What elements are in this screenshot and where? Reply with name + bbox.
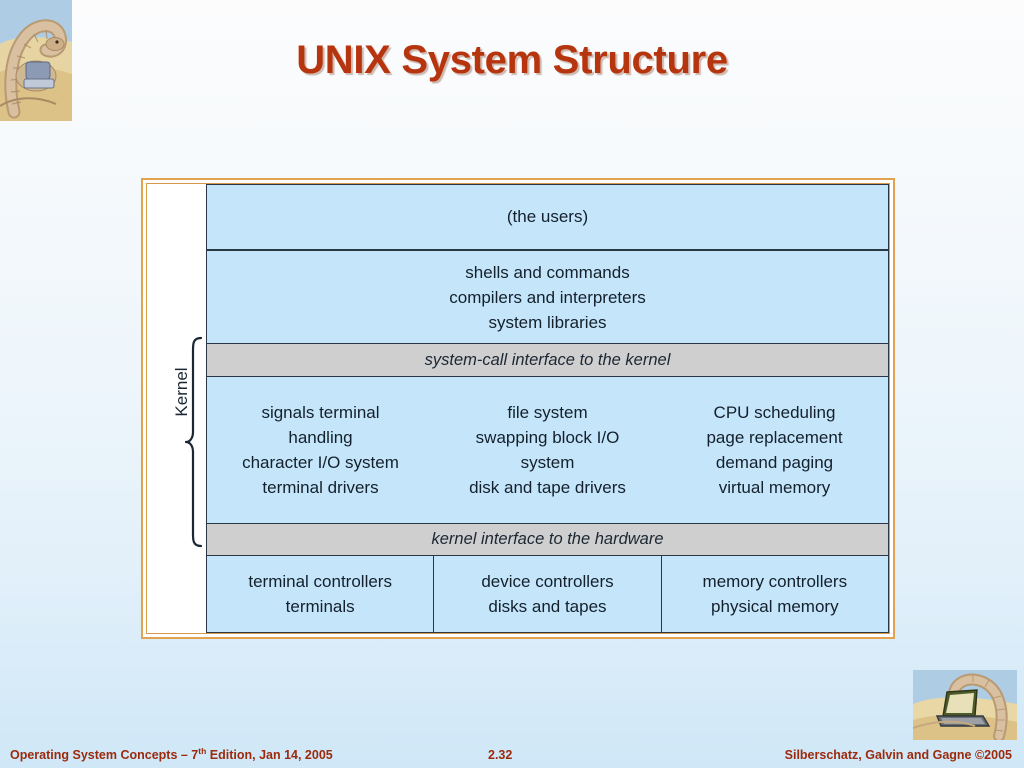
hardware-column-1-line1: terminal controllers: [207, 569, 433, 594]
kernel-column-2: file system swapping block I/O system di…: [434, 400, 661, 500]
hardware-columns: terminal controllers terminals device co…: [207, 556, 888, 632]
band-kernel-hardware-interface: kernel interface to the hardware: [206, 524, 889, 556]
kernel-column-1-line4: terminal drivers: [207, 475, 434, 500]
footer-left: Operating System Concepts – 7th Edition,…: [10, 746, 333, 762]
hardware-column-2-line2: disks and tapes: [434, 594, 660, 619]
footer-copyright: Silberschatz, Galvin and Gagne ©2005: [785, 748, 1012, 762]
layer-stack: (the users) shells and commands compiler…: [206, 184, 889, 633]
diagram-inner-frame: Kernel (the users) shells and commands c…: [146, 183, 890, 634]
layer-shells-line3: system libraries: [449, 310, 646, 335]
layer-users: (the users): [206, 184, 889, 250]
band-system-call-interface: system-call interface to the kernel: [206, 344, 889, 376]
dinosaur-laptop-icon: [913, 670, 1017, 740]
footer-left-suffix: Edition, Jan 14, 2005: [206, 748, 332, 762]
unix-structure-diagram: Kernel (the users) shells and commands c…: [141, 178, 895, 639]
kernel-column-3-line1: CPU scheduling: [661, 400, 888, 425]
kernel-column-3-line2: page replacement: [661, 425, 888, 450]
layer-users-text: (the users): [507, 204, 588, 229]
kernel-column-1-line1: signals terminal: [207, 400, 434, 425]
kernel-columns: signals terminal handling character I/O …: [207, 377, 888, 522]
dinosaur-laptop-logo-bottom-right: [913, 670, 1017, 740]
kernel-column-3-line3: demand paging: [661, 450, 888, 475]
kernel-column-1: signals terminal handling character I/O …: [207, 400, 434, 500]
hardware-column-3-line2: physical memory: [662, 594, 888, 619]
hardware-column-2: device controllers disks and tapes: [433, 556, 660, 632]
kernel-column-2-line1: file system: [434, 400, 661, 425]
layer-shells: shells and commands compilers and interp…: [206, 250, 889, 345]
layer-hardware: terminal controllers terminals device co…: [206, 555, 889, 633]
kernel-column-1-line2: handling: [207, 425, 434, 450]
footer-left-prefix: Operating System Concepts – 7: [10, 748, 198, 762]
band-system-call-interface-text: system-call interface to the kernel: [425, 348, 671, 373]
layer-shells-line2: compilers and interpreters: [449, 285, 646, 310]
kernel-column-3-line4: virtual memory: [661, 475, 888, 500]
hardware-column-3-line1: memory controllers: [662, 569, 888, 594]
hardware-column-1-line2: terminals: [207, 594, 433, 619]
footer-page-number: 2.32: [488, 748, 512, 762]
kernel-column-1-line3: character I/O system: [207, 450, 434, 475]
kernel-column-2-line3: system: [434, 450, 661, 475]
hardware-column-3: memory controllers physical memory: [661, 556, 888, 632]
layer-kernel-internals: signals terminal handling character I/O …: [206, 376, 889, 523]
curly-brace-icon: [185, 336, 203, 548]
kernel-column-2-line2: swapping block I/O: [434, 425, 661, 450]
layer-shells-line1: shells and commands: [449, 260, 646, 285]
hardware-column-1: terminal controllers terminals: [207, 556, 433, 632]
hardware-column-2-line1: device controllers: [434, 569, 660, 594]
slide-title: UNIX System Structure: [0, 38, 1024, 83]
kernel-column-3: CPU scheduling page replacement demand p…: [661, 400, 888, 500]
band-kernel-hardware-interface-text: kernel interface to the hardware: [431, 527, 663, 552]
kernel-column-2-line4: disk and tape drivers: [434, 475, 661, 500]
kernel-gutter: Kernel: [147, 184, 206, 633]
